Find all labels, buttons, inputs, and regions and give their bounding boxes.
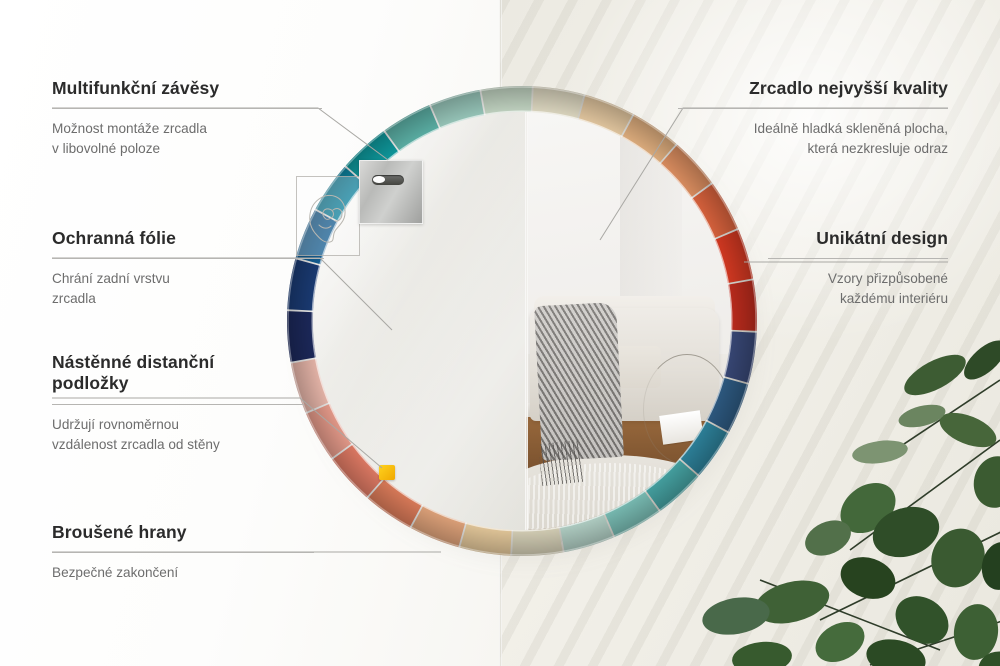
desc-line: Udržují rovnoměrnou <box>52 417 179 432</box>
infographic-canvas: Multifunkční závěsy Možnost montáže zrca… <box>0 0 1000 666</box>
desc-line: zrcadla <box>52 291 96 306</box>
callout-title: Broušené hrany <box>52 522 314 543</box>
wall-spacer-pad <box>379 465 395 480</box>
eucalyptus-branches <box>700 320 1000 666</box>
callout-title: Nástěnné distanční podložky <box>52 352 304 395</box>
desc-line: Bezpečné zakončení <box>52 565 178 580</box>
reflection-magazine <box>659 410 704 445</box>
hanger-plate <box>359 160 423 224</box>
title-line: Nástěnné distanční <box>52 352 214 372</box>
hanger-keyhole-slot <box>372 175 404 185</box>
callout-rule <box>52 552 314 553</box>
desc-line: Chrání zadní vrstvu <box>52 271 170 286</box>
callout-nastenne-distancni-podlozky: Nástěnné distanční podložky Udržují rovn… <box>52 352 304 455</box>
desc-line: Možnost montáže zrcadla <box>52 121 207 136</box>
desc-line: Vzory přizpůsobené <box>828 271 948 286</box>
callout-title: Ochranná fólie <box>52 228 324 249</box>
desc-line: která nezkresluje odraz <box>807 141 948 156</box>
callout-description: Bezpečné zakončení <box>52 563 314 583</box>
callout-brousene-hrany: Broušené hrany Bezpečné zakončení <box>52 522 314 583</box>
callout-unikatni-design: Unikátní design Vzory přizpůsobené každé… <box>768 228 948 310</box>
callout-multifunkcni-zavesy: Multifunkční závěsy Možnost montáže zrca… <box>52 78 322 160</box>
callout-title: Unikátní design <box>768 228 948 249</box>
reflection-knitted-throw <box>534 302 624 461</box>
callout-description: Udržují rovnoměrnou vzdálenost zrcadla o… <box>52 415 304 455</box>
callout-rule <box>52 258 324 259</box>
callout-rule <box>768 258 948 259</box>
callout-description: Vzory přizpůsobené každému interiéru <box>768 269 948 309</box>
desc-line: vzdálenost zrcadla od stěny <box>52 437 220 452</box>
glass-split-seam <box>525 112 528 530</box>
callout-rule <box>678 108 948 109</box>
callout-rule <box>52 404 304 405</box>
reflection-throw-fringe <box>538 440 583 486</box>
callout-ochranna-folie: Ochranná fólie Chrání zadní vrstvu zrcad… <box>52 228 324 310</box>
callout-rule <box>52 108 322 109</box>
callout-description: Ideálně hladká skleněná plocha, která ne… <box>678 119 948 159</box>
callout-title: Multifunkční závěsy <box>52 78 322 99</box>
callout-description: Chrání zadní vrstvu zrcadla <box>52 269 324 309</box>
callout-description: Možnost montáže zrcadla v libovolné polo… <box>52 119 322 159</box>
desc-line: Ideálně hladká skleněná plocha, <box>754 121 948 136</box>
desc-line: každému interiéru <box>840 291 948 306</box>
callout-title: Zrcadlo nejvyšší kvality <box>678 78 948 99</box>
callout-zrcadlo-nejvyssi-kvality: Zrcadlo nejvyšší kvality Ideálně hladká … <box>678 78 948 160</box>
title-line: podložky <box>52 373 129 393</box>
desc-line: v libovolné poloze <box>52 141 160 156</box>
